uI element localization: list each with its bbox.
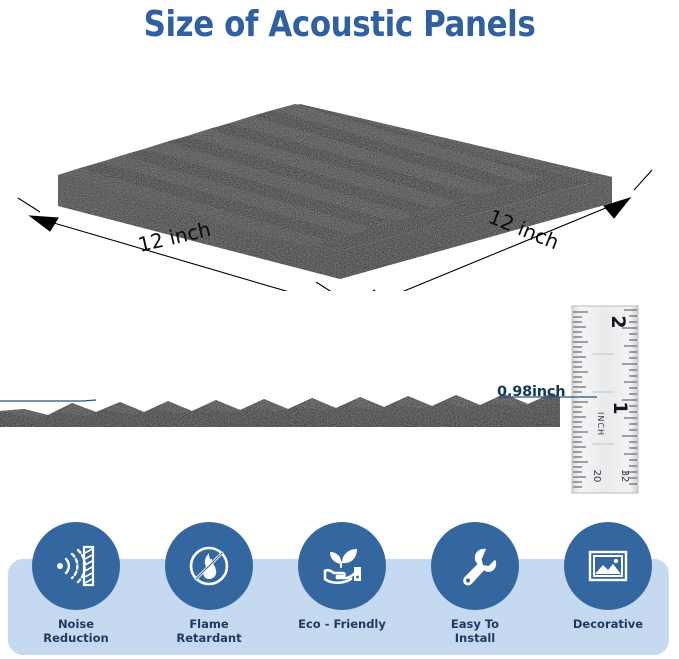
page-title: Size of Acoustic Panels xyxy=(48,4,632,45)
panel-profile-and-ruler: 2 1 INCH 20 32 xyxy=(0,296,679,501)
feature-easy-to-install[interactable]: Easy To Install xyxy=(409,522,541,657)
thickness-leader-line xyxy=(0,400,96,401)
ruler-mark-20: 20 xyxy=(591,470,602,483)
thickness-callout-label: 0.98inch xyxy=(497,384,565,400)
ruler-mark-2: 2 xyxy=(607,315,629,328)
ruler: 2 1 INCH 20 32 xyxy=(572,306,638,493)
feature-decorative[interactable]: Decorative xyxy=(542,522,674,657)
feature-label: Decorative xyxy=(542,617,674,631)
sound-wave-wall-icon xyxy=(32,522,120,610)
acoustic-panel-svg: 12 inch 12 inch xyxy=(0,46,679,291)
feature-noise-reduction[interactable]: Noise Reduction xyxy=(10,522,142,657)
feature-label: Eco - Friendly xyxy=(276,617,408,631)
ruler-mark-32: 32 xyxy=(619,470,630,483)
ruler-mark-1: 1 xyxy=(609,401,631,414)
no-flame-icon xyxy=(165,522,253,610)
feature-label: Flame Retardant xyxy=(143,617,275,646)
feature-flame-retardant[interactable]: Flame Retardant xyxy=(143,522,275,657)
feature-label: Noise Reduction xyxy=(10,617,142,646)
panel-hero-illustration: 12 inch 12 inch xyxy=(0,46,679,291)
ruler-mark-inch: INCH xyxy=(596,412,605,436)
foam-side-profile xyxy=(0,393,560,427)
framed-picture-icon xyxy=(564,522,652,610)
feature-eco-friendly[interactable]: Eco - Friendly xyxy=(276,522,408,657)
leaf-in-hand-icon xyxy=(298,522,386,610)
product-infographic: Size of Acoustic Panels xyxy=(0,0,679,659)
feature-label: Easy To Install xyxy=(409,617,541,646)
wrench-icon xyxy=(431,522,519,610)
